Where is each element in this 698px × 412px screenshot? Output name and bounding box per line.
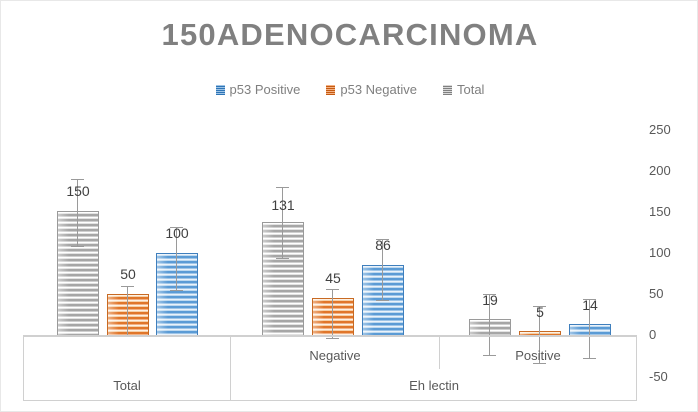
category-label-eh-lectin: Eh lectin [231, 378, 637, 393]
category-label-total: Total [23, 378, 231, 393]
data-label-g1-total: 150 [49, 183, 107, 199]
error-bar-cap-top-g1-neg [121, 286, 134, 287]
total-group-positive-bar[interactable] [156, 253, 198, 336]
error-bar-line-g2-neg [332, 289, 333, 339]
data-label-g1-pos: 100 [148, 225, 206, 241]
y-axis-tick-50: 50 [649, 286, 663, 301]
data-label-g2-pos: 86 [354, 237, 412, 253]
category-label-negative: Negative [231, 348, 439, 363]
positive-group-total-bar[interactable] [469, 319, 511, 336]
error-bar-cap-top-g2-neg [326, 289, 339, 290]
data-label-g2-neg: 45 [304, 270, 362, 286]
total-group-negative-bar[interactable] [107, 294, 149, 336]
error-bar-cap-top-g2-total [276, 187, 289, 188]
error-bar-line-g1-neg [127, 286, 128, 336]
category-label-positive: Positive [439, 348, 637, 363]
plot-area: 250 200 150 100 50 0 -50 150 50 100 131 … [1, 1, 698, 412]
error-bar-cap-bottom-g2-total [276, 258, 289, 259]
data-label-g3-pos: 14 [561, 297, 619, 313]
y-axis-tick-200: 200 [649, 163, 671, 178]
error-bar-cap-top-g1-total [71, 179, 84, 180]
error-bar-cap-bottom-g1-pos [170, 290, 183, 291]
y-axis-tick-0: 0 [649, 327, 656, 342]
total-group-total-bar[interactable] [57, 211, 99, 336]
negative-group-total-bar[interactable] [262, 222, 304, 336]
data-label-g2-total: 131 [254, 197, 312, 213]
error-bar-cap-bottom-g1-total [71, 246, 84, 247]
error-bar-cap-bottom-g2-pos [376, 300, 389, 301]
y-axis-tick-100: 100 [649, 245, 671, 260]
data-label-g1-neg: 50 [99, 266, 157, 282]
chart-container: 150ADENOCARCINOMA p53 Positive p53 Negat… [0, 0, 698, 412]
y-axis-tick-minus-50: -50 [649, 369, 668, 384]
y-axis-tick-150: 150 [649, 204, 671, 219]
y-axis-tick-250: 250 [649, 122, 671, 137]
negative-group-negative-bar[interactable] [312, 298, 354, 336]
